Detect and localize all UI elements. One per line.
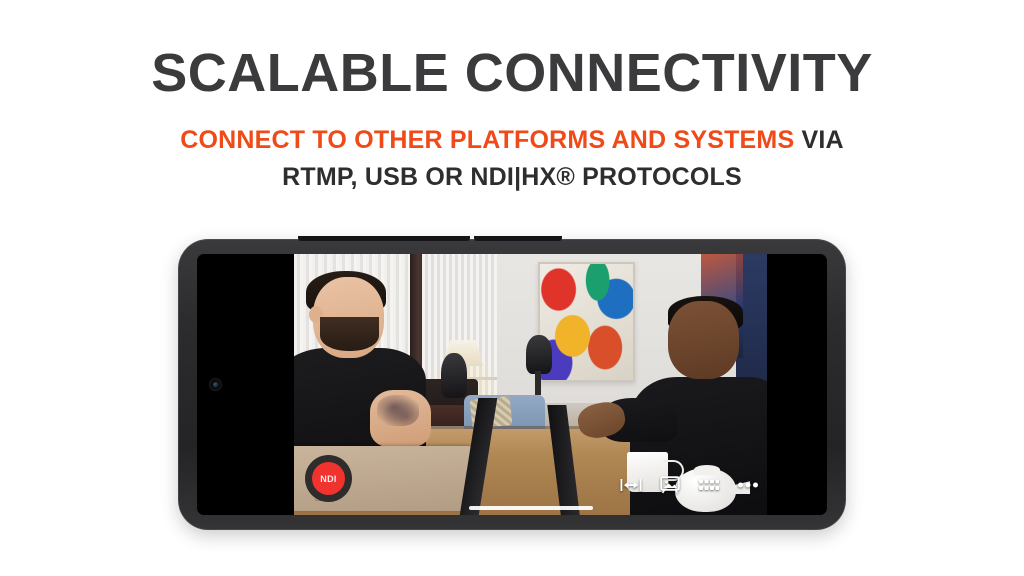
subheadline-highlight: CONNECT TO OTHER PLATFORMS AND SYSTEMS bbox=[180, 126, 794, 154]
top-sensor-slot bbox=[474, 236, 562, 241]
slide-canvas: SCALABLE CONNECTIVITY CONNECT TO OTHER P… bbox=[0, 0, 1024, 576]
subheadline-line-2: RTMP, USB OR NDI|HX® PROTOCOLS bbox=[0, 159, 1024, 195]
subheadline-line-1: CONNECT TO OTHER PLATFORMS AND SYSTEMS V… bbox=[0, 122, 1024, 158]
fit-width-icon[interactable] bbox=[620, 475, 642, 494]
more-options-icon[interactable] bbox=[737, 475, 759, 494]
scene-microphone-right bbox=[441, 353, 467, 397]
scene-teapot-lid bbox=[694, 465, 720, 474]
phone-device:  NDI bbox=[178, 239, 846, 530]
scene-microphone-left-stem bbox=[535, 371, 541, 394]
earpiece-speaker bbox=[298, 236, 470, 241]
subheadline-tail: VIA bbox=[794, 126, 843, 154]
ndi-stream-button[interactable]: NDI bbox=[305, 455, 352, 502]
video-controls bbox=[620, 475, 759, 494]
grid-icon[interactable] bbox=[698, 475, 720, 494]
scene-person-left-tattoo bbox=[377, 395, 420, 426]
scene-microphone-left bbox=[526, 335, 552, 374]
ndi-button-label: NDI bbox=[312, 462, 345, 495]
picture-frame-icon[interactable] bbox=[659, 475, 681, 494]
front-camera-icon bbox=[209, 378, 222, 391]
scene-painting bbox=[538, 262, 635, 382]
phone-screen:  NDI bbox=[197, 254, 827, 515]
scene-person-right-head bbox=[668, 301, 739, 379]
headline-block: SCALABLE CONNECTIVITY CONNECT TO OTHER P… bbox=[0, 44, 1024, 195]
home-indicator[interactable] bbox=[469, 506, 593, 510]
subheadline: CONNECT TO OTHER PLATFORMS AND SYSTEMS V… bbox=[0, 122, 1024, 195]
scene-person-left-beard bbox=[320, 317, 379, 351]
page-title: SCALABLE CONNECTIVITY bbox=[0, 44, 1024, 102]
video-preview[interactable]:  NDI bbox=[294, 254, 767, 515]
